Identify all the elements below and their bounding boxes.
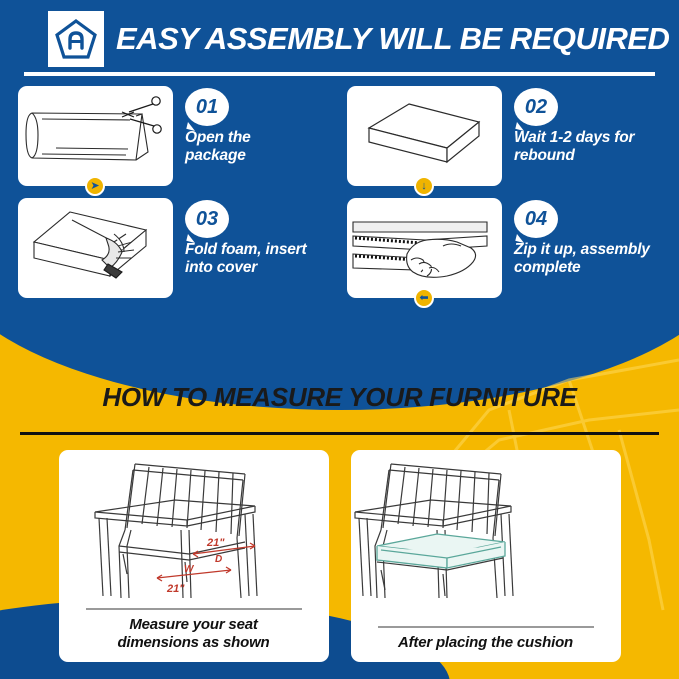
foam-folded-into-cover-icon	[18, 198, 173, 298]
measure-section-title: HOW TO MEASURE YOUR FURNITURE	[0, 382, 679, 413]
step-02-text: 02 Wait 1-2 days for rebound	[514, 86, 678, 165]
chair-with-dimension-arrows-icon: 21" D W 21"	[59, 450, 329, 600]
infographic-page: EASY ASSEMBLY WILL BE REQUIRED	[0, 0, 679, 679]
card-1-divider	[86, 608, 302, 610]
step-04-arrow-left-icon: ⬅	[414, 288, 434, 308]
step-04-text: 04 Zip it up, assembly complete	[514, 198, 678, 277]
card-2-divider	[378, 626, 594, 628]
measure-cards: 21" D W 21" Measure your seat dimensions…	[0, 450, 679, 662]
assembly-steps: ➤ 01 Open the package	[0, 86, 679, 310]
flat-foam-cushion-icon	[347, 86, 502, 186]
measure-card-dimensions: 21" D W 21" Measure your seat dimensions…	[59, 450, 329, 662]
step-01-text: 01 Open the package	[185, 86, 339, 165]
card-1-caption: Measure your seat dimensions as shown	[74, 616, 314, 662]
header-underline	[24, 72, 655, 76]
step-01-arrow-right-icon: ➤	[85, 176, 105, 196]
step-02-number-badge: 02	[514, 88, 558, 126]
step-04-illustration: ⬅	[347, 198, 502, 298]
step-04-number-badge: 04	[514, 200, 558, 238]
step-row-1: ➤ 01 Open the package	[0, 86, 679, 186]
hand-zipping-cover-icon	[347, 198, 502, 298]
house-pentagon-logo-icon	[54, 17, 98, 61]
width-value-label: 21"	[166, 583, 185, 595]
header: EASY ASSEMBLY WILL BE REQUIRED	[0, 0, 679, 82]
step-03-text: 03 Fold foam, insert into cover	[185, 198, 339, 277]
step-row-2: 03 Fold foam, insert into cover	[0, 198, 679, 298]
step-04-label: Zip it up, assembly complete	[514, 241, 678, 277]
assembly-step-03: 03 Fold foam, insert into cover	[0, 198, 339, 298]
step-03-illustration	[18, 198, 173, 298]
depth-letter-label: D	[215, 554, 222, 565]
card-2-caption: After placing the cushion	[366, 634, 606, 662]
step-01-number-badge: 01	[185, 88, 229, 126]
measure-title-underline	[20, 432, 659, 435]
chair-with-seat-cushion-icon	[351, 450, 621, 600]
depth-value-label: 21"	[206, 537, 225, 549]
measure-card-cushion: After placing the cushion	[351, 450, 621, 662]
step-02-illustration: ↓	[347, 86, 502, 186]
assembly-step-02: ↓ 02 Wait 1-2 days for rebound	[339, 86, 678, 186]
step-02-arrow-down-icon: ↓	[414, 176, 434, 196]
assembly-step-01: ➤ 01 Open the package	[0, 86, 339, 186]
step-01-label: Open the package	[185, 129, 339, 165]
card-1-figure: 21" D W 21"	[59, 450, 329, 608]
step-03-number-badge: 03	[185, 200, 229, 238]
assembly-step-04: ⬅ 04 Zip it up, assembly complete	[339, 198, 678, 298]
width-letter-label: W	[184, 564, 195, 575]
step-03-label: Fold foam, insert into cover	[185, 241, 339, 277]
brand-logo	[48, 11, 104, 67]
step-01-illustration: ➤	[18, 86, 173, 186]
rolled-package-with-scissors-icon	[18, 86, 173, 186]
card-2-figure	[351, 450, 621, 626]
step-02-label: Wait 1-2 days for rebound	[514, 129, 678, 165]
page-title: EASY ASSEMBLY WILL BE REQUIRED	[116, 15, 669, 63]
